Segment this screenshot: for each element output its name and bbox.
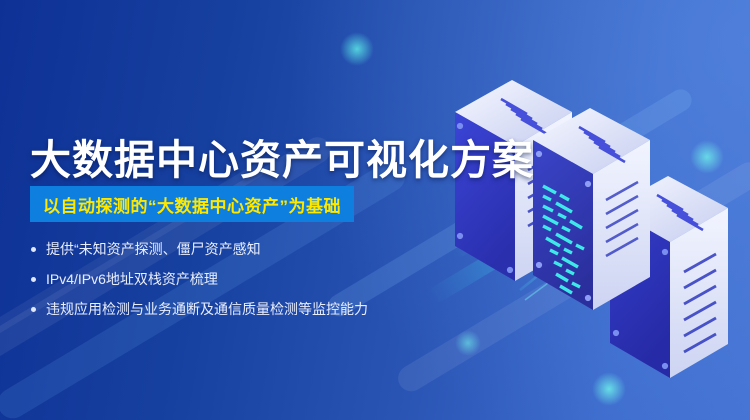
list-item-label: IPv4/IPv6地址双栈资产梳理 bbox=[46, 271, 218, 287]
list-item-label: 违规应用检测与业务通断及通信质量检测等监控能力 bbox=[46, 301, 368, 317]
list-item: 违规应用检测与业务通断及通信质量检测等监控能力 bbox=[30, 300, 368, 318]
promo-banner: 大数据中心资产可视化方案 以自动探测的“大数据中心资产”为基础 提供“未知资产探… bbox=[0, 0, 750, 420]
feature-list: 提供“未知资产探测、僵尸资产感知 IPv4/IPv6地址双栈资产梳理 违规应用检… bbox=[30, 240, 368, 330]
bullet-dot-icon bbox=[31, 247, 36, 252]
page-title: 大数据中心资产可视化方案 bbox=[30, 126, 534, 186]
bullet-dot-icon bbox=[31, 277, 36, 282]
list-item: IPv4/IPv6地址双栈资产梳理 bbox=[30, 270, 368, 288]
server-middle bbox=[533, 108, 650, 310]
subtitle-badge: 以自动探测的“大数据中心资产”为基础 bbox=[30, 186, 354, 222]
list-item-label: 提供“未知资产探测、僵尸资产感知 bbox=[46, 241, 261, 257]
subtitle-text: 以自动探测的“大数据中心资产”为基础 bbox=[43, 192, 341, 217]
list-item: 提供“未知资产探测、僵尸资产感知 bbox=[30, 240, 368, 258]
bullet-dot-icon bbox=[31, 307, 36, 312]
